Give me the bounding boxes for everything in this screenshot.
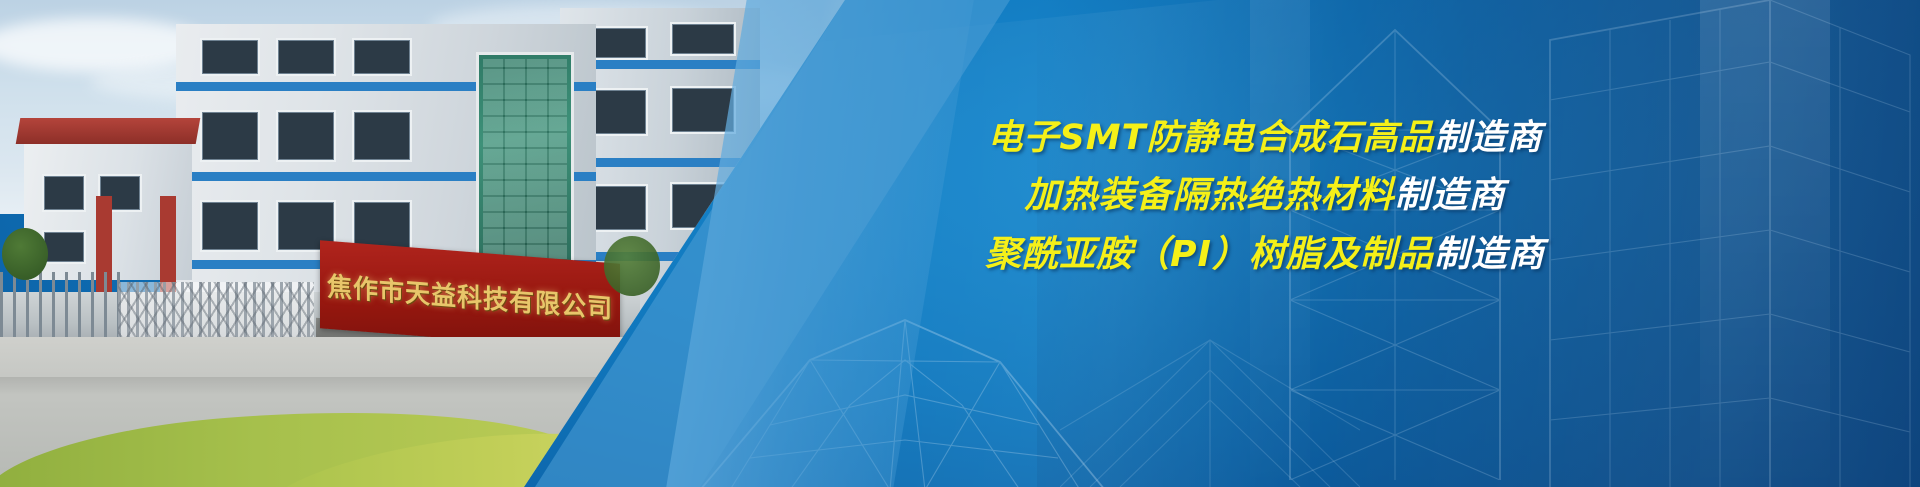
headline-2-highlight: 加热装备隔热绝热材料: [1024, 175, 1394, 216]
headline-line-1: 电子SMT防静电合成石高品制造商: [690, 118, 1840, 159]
headline-3-tail: 制造商: [1434, 234, 1545, 275]
headline-line-3: 聚酰亚胺（PI）树脂及制品制造商: [690, 234, 1840, 276]
green-glass-curtain-wall: [476, 52, 574, 266]
tree: [604, 236, 660, 296]
headline-3-highlight: 聚酰亚胺（PI）树脂及制品: [985, 234, 1434, 275]
hero-banner: 焦作市天益科技有限公司 电子SMT防静电合成石高品制造商 加热装备隔热绝热材料制…: [0, 0, 1920, 487]
headline-line-2: 加热装备隔热绝热材料制造商: [690, 175, 1840, 217]
headline-group: 电子SMT防静电合成石高品制造商 加热装备隔热绝热材料制造商 聚酰亚胺（PI）树…: [690, 118, 1840, 276]
truss-wireframe-icon: [690, 300, 1110, 487]
headline-1-highlight: 电子SMT防静电合成石高品: [988, 118, 1435, 158]
tree: [2, 228, 48, 280]
headline-1-tail: 制造商: [1434, 118, 1542, 158]
headline-2-tail: 制造商: [1395, 175, 1506, 216]
grid-wireframe-icon: [1060, 250, 1360, 487]
red-roof: [16, 118, 201, 144]
company-sign-text: 焦作市天益科技有限公司: [327, 266, 613, 326]
